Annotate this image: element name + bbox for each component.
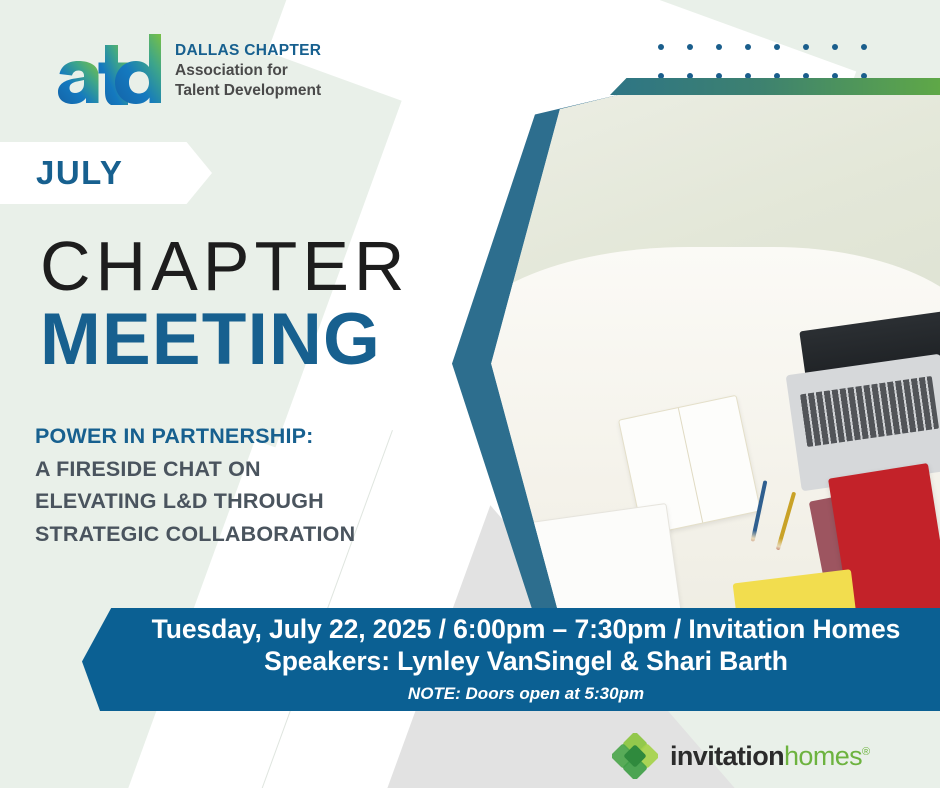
dot-icon [803, 44, 809, 50]
dot-row [658, 44, 867, 50]
sponsor-word-2: homes [784, 741, 862, 771]
dot-icon [687, 44, 693, 50]
gradient-accent-bar [610, 78, 940, 95]
event-details-banner: Tuesday, July 22, 2025 / 6:00pm – 7:30pm… [82, 608, 940, 711]
headline-line2: MEETING [40, 303, 409, 377]
dot-icon [716, 44, 722, 50]
month-label: JULY [36, 154, 123, 192]
sponsor-word-1: invitation [670, 741, 784, 771]
event-flyer: DALLAS CHAPTER Association for Talent De… [0, 0, 940, 788]
session-title-line3: ELEVATING L&D THROUGH [35, 485, 455, 518]
dot-icon [774, 44, 780, 50]
atd-logo: DALLAS CHAPTER Association for Talent De… [46, 33, 321, 105]
session-title: POWER IN PARTNERSHIP: A FIRESIDE CHAT ON… [35, 420, 455, 551]
event-speakers: Speakers: Lynley VanSingel & Shari Barth [264, 646, 788, 678]
invitation-homes-diamond-icon [612, 733, 658, 779]
month-tag: JULY [0, 142, 212, 204]
dot-icon [832, 44, 838, 50]
chapter-name: DALLAS CHAPTER [175, 41, 321, 60]
sponsor-wordmark: invitationhomes® [670, 741, 870, 772]
photo-scene [482, 88, 940, 618]
page-title: CHAPTER MEETING [40, 232, 409, 377]
event-note: NOTE: Doors open at 5:30pm [408, 684, 644, 704]
session-title-line2: A FIRESIDE CHAT ON [35, 453, 455, 486]
event-datetime-location: Tuesday, July 22, 2025 / 6:00pm – 7:30pm… [152, 615, 901, 645]
org-name-line2: Talent Development [175, 81, 321, 101]
sponsor-trademark: ® [862, 746, 870, 758]
session-title-line4: STRATEGIC COLLABORATION [35, 518, 455, 551]
atd-logo-text: DALLAS CHAPTER Association for Talent De… [175, 37, 321, 100]
org-name-line1: Association for [175, 61, 321, 81]
session-title-line1: POWER IN PARTNERSHIP: [35, 420, 455, 453]
dot-icon [658, 44, 664, 50]
atd-logo-icon [46, 33, 161, 105]
dot-icon [861, 44, 867, 50]
meeting-photo [482, 88, 940, 618]
sponsor-logo: invitationhomes® [612, 733, 870, 779]
dot-icon [745, 44, 751, 50]
headline-line1: CHAPTER [40, 232, 409, 301]
